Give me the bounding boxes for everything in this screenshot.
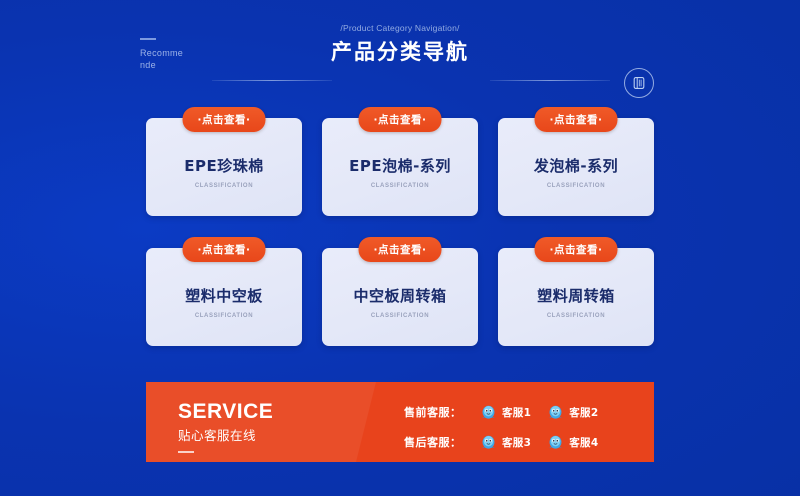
page-header: Recommende /Product Category Navigation/…	[0, 22, 800, 84]
qq-penguin-icon[interactable]	[547, 404, 564, 421]
card-subtitle: CLASSIFICATION	[371, 313, 429, 319]
header-divider-left	[212, 80, 332, 81]
contact-kefu1[interactable]: 客服1	[480, 404, 531, 421]
recommend-dash-decoration	[140, 38, 156, 40]
category-card-row: ·点击查看· 塑料中空板 CLASSIFICATION ·点击查看· 中空板周转…	[146, 248, 654, 346]
card-badge[interactable]: ·点击查看·	[535, 107, 618, 132]
category-card-plastic-turnover-box[interactable]: ·点击查看· 塑料周转箱 CLASSIFICATION	[498, 248, 654, 346]
card-title: EPE泡棉-系列	[349, 156, 451, 176]
card-subtitle: CLASSIFICATION	[547, 183, 605, 189]
aftersales-label: 售后客服：	[404, 434, 480, 450]
presales-contact-row: 售前客服： 客服1	[404, 402, 644, 422]
recommend-label-block: Recommende	[140, 38, 210, 71]
header-divider-right	[490, 80, 610, 81]
contact-kefu3[interactable]: 客服3	[480, 434, 531, 451]
recommend-label: Recommende	[140, 47, 186, 71]
card-badge[interactable]: ·点击查看·	[183, 237, 266, 262]
qq-penguin-icon[interactable]	[480, 404, 497, 421]
service-title-cn: 贴心客服在线	[178, 427, 273, 445]
category-card-hollow-board-turnover-box[interactable]: ·点击查看· 中空板周转箱 CLASSIFICATION	[322, 248, 478, 346]
card-subtitle: CLASSIFICATION	[195, 313, 253, 319]
service-banner: SERVICE 贴心客服在线 售前客服：	[146, 382, 654, 462]
contact-kefu4[interactable]: 客服4	[547, 434, 598, 451]
category-card-grid: ·点击查看· EPE珍珠棉 CLASSIFICATION ·点击查看· EPE泡…	[146, 118, 654, 346]
card-badge[interactable]: ·点击查看·	[359, 237, 442, 262]
page-title: 产品分类导航	[300, 39, 500, 65]
qq-penguin-icon[interactable]	[480, 434, 497, 451]
contact-name[interactable]: 客服2	[569, 405, 598, 420]
header-title-block: /Product Category Navigation/ 产品分类导航	[300, 22, 500, 65]
card-title: 发泡棉-系列	[534, 156, 618, 176]
contact-name[interactable]: 客服1	[502, 405, 531, 420]
presales-label: 售前客服：	[404, 404, 480, 420]
card-subtitle: CLASSIFICATION	[547, 313, 605, 319]
service-title-en: SERVICE	[178, 400, 273, 424]
card-title: 塑料周转箱	[537, 286, 615, 306]
page-subtitle: /Product Category Navigation/	[300, 22, 500, 34]
service-banner-heading: SERVICE 贴心客服在线	[178, 400, 273, 453]
package-box-icon-glyph	[631, 75, 647, 91]
contact-name[interactable]: 客服4	[569, 435, 598, 450]
card-subtitle: CLASSIFICATION	[371, 183, 429, 189]
contact-name[interactable]: 客服3	[502, 435, 531, 450]
aftersales-contact-row: 售后客服： 客服3	[404, 432, 644, 452]
category-card-row: ·点击查看· EPE珍珠棉 CLASSIFICATION ·点击查看· EPE泡…	[146, 118, 654, 216]
product-category-navigation-page: Recommende /Product Category Navigation/…	[0, 0, 800, 496]
card-subtitle: CLASSIFICATION	[195, 183, 253, 189]
card-badge[interactable]: ·点击查看·	[359, 107, 442, 132]
category-card-foamed-cotton-series[interactable]: ·点击查看· 发泡棉-系列 CLASSIFICATION	[498, 118, 654, 216]
card-title: EPE珍珠棉	[184, 156, 264, 176]
package-box-icon	[624, 68, 654, 98]
card-badge[interactable]: ·点击查看·	[183, 107, 266, 132]
card-title: 中空板周转箱	[353, 286, 446, 306]
category-card-epe-pearl-cotton[interactable]: ·点击查看· EPE珍珠棉 CLASSIFICATION	[146, 118, 302, 216]
contact-kefu2[interactable]: 客服2	[547, 404, 598, 421]
category-card-plastic-hollow-board[interactable]: ·点击查看· 塑料中空板 CLASSIFICATION	[146, 248, 302, 346]
card-badge[interactable]: ·点击查看·	[535, 237, 618, 262]
category-card-epe-foam-series[interactable]: ·点击查看· EPE泡棉-系列 CLASSIFICATION	[322, 118, 478, 216]
qq-penguin-icon[interactable]	[547, 434, 564, 451]
card-title: 塑料中空板	[185, 286, 263, 306]
service-contact-list: 售前客服： 客服1	[404, 402, 644, 452]
service-dash-decoration	[178, 451, 194, 453]
